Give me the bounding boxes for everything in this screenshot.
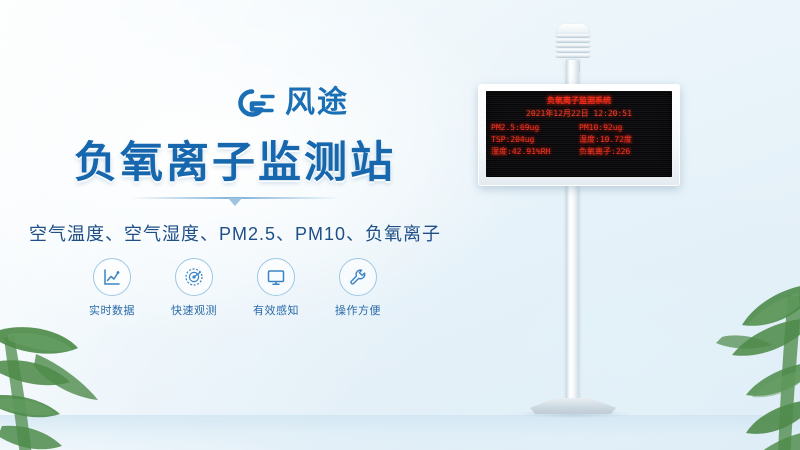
- feature-label: 快速观测: [171, 302, 217, 318]
- radar-detection-icon: [175, 258, 213, 296]
- feature-item-easy-operation: 操作方便: [330, 258, 386, 318]
- led-value-tsp: TSP:204ug: [491, 135, 579, 145]
- led-reading-row: 湿度:42.91%RH 负氧离子:226: [491, 147, 667, 157]
- led-value-temperature: 温度:10.72度: [579, 135, 667, 145]
- divider-diamond: [228, 198, 242, 206]
- monitor-screen-icon: [257, 258, 295, 296]
- led-value-pm25: PM2.5:69ug: [491, 123, 579, 133]
- page-subtitle: 空气温度、空气湿度、PM2.5、PM10、负氧离子: [0, 220, 470, 246]
- led-value-humidity: 湿度:42.91%RH: [491, 147, 579, 157]
- led-datetime: 2021年12月22日 12:20:51: [486, 108, 672, 119]
- line-chart-icon: [93, 258, 131, 296]
- led-value-negative-oxygen-ion: 负氧离子:226: [579, 147, 667, 157]
- page-title: 负氧离子监测站: [0, 140, 470, 187]
- led-reading-row: PM2.5:69ug PM10:92ug: [491, 123, 667, 133]
- feature-item-effective-sensing: 有效感知: [248, 258, 304, 318]
- tropical-leaf-left-icon: [0, 296, 140, 450]
- base-plate: [530, 398, 616, 414]
- product-banner: 风途 负氧离子监测站 空气温度、空气湿度、PM2.5、PM10、负氧离子 实时数…: [0, 0, 800, 450]
- feature-label: 有效感知: [253, 302, 299, 318]
- title-divider: [0, 197, 470, 199]
- feature-item-fast-observation: 快速观测: [166, 258, 222, 318]
- led-title: 负氧离子监测系统: [486, 95, 672, 106]
- brand-logo-text: 风途: [285, 88, 349, 118]
- led-readings: PM2.5:69ug PM10:92ug TSP:204ug 温度:10.72度…: [486, 123, 672, 157]
- led-display-frame: 负氧离子监测系统 2021年12月22日 12:20:51 PM2.5:69ug…: [478, 84, 680, 186]
- led-display-screen: 负氧离子监测系统 2021年12月22日 12:20:51 PM2.5:69ug…: [486, 91, 672, 177]
- feature-label: 操作方便: [335, 302, 381, 318]
- tropical-leaf-right-icon: [668, 275, 800, 450]
- wrench-icon: [339, 258, 377, 296]
- led-reading-row: TSP:204ug 温度:10.72度: [491, 135, 667, 145]
- led-value-pm10: PM10:92ug: [579, 123, 667, 133]
- fengtu-g-mark-icon: [232, 86, 276, 120]
- sensor-louver-plates: [555, 34, 591, 61]
- brand-logo: 风途: [232, 86, 349, 120]
